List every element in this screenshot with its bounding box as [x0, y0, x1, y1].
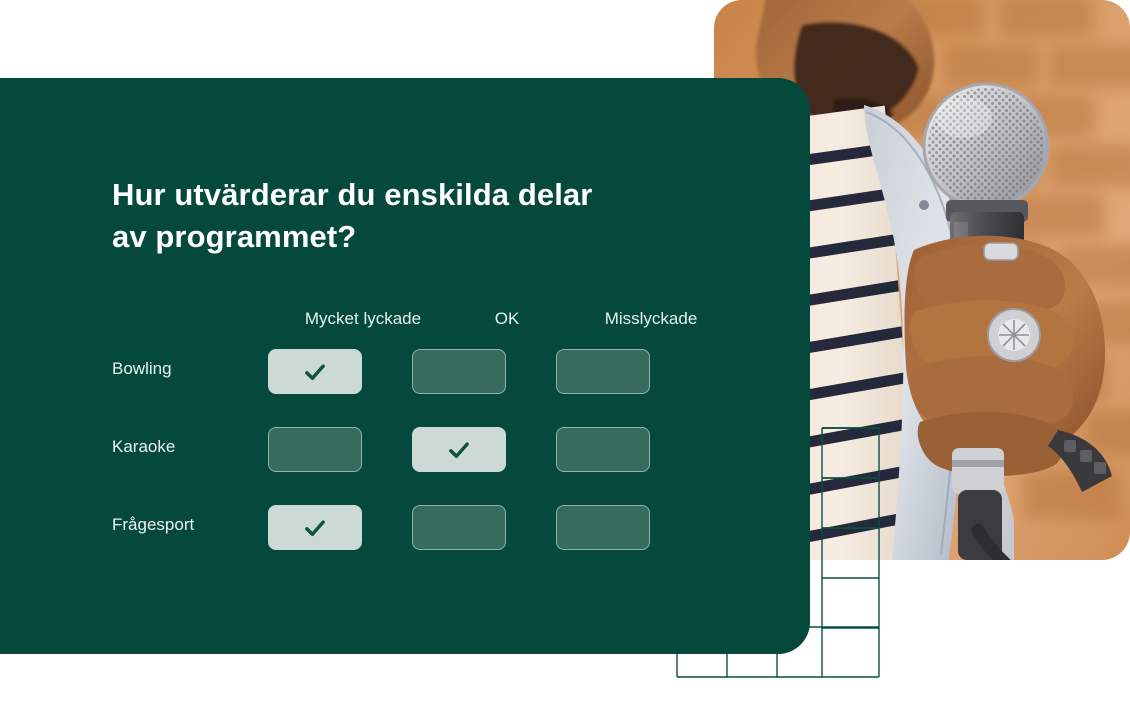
option-fragesport-mycket-lyckade[interactable]	[268, 505, 362, 550]
check-icon	[302, 359, 328, 385]
rating-matrix: Mycket lyckade OK Misslyckade Bowling	[112, 308, 712, 570]
column-header-misslyckade: Misslyckade	[556, 308, 746, 330]
option-bowling-misslyckade[interactable]	[556, 349, 650, 394]
page-title: Hur utvärderar du enskilda delar av prog…	[112, 174, 632, 258]
option-karaoke-mycket-lyckade[interactable]	[268, 427, 362, 472]
matrix-column-headers: Mycket lyckade OK Misslyckade	[112, 308, 712, 336]
option-fragesport-ok[interactable]	[412, 505, 506, 550]
row-label-karaoke: Karaoke	[112, 435, 175, 459]
row-label-bowling: Bowling	[112, 357, 172, 381]
table-row: Karaoke	[112, 414, 712, 492]
survey-card: Hur utvärderar du enskilda delar av prog…	[0, 78, 810, 654]
option-karaoke-ok[interactable]	[412, 427, 506, 472]
check-icon	[302, 515, 328, 541]
table-row: Frågesport	[112, 492, 712, 570]
option-karaoke-misslyckade[interactable]	[556, 427, 650, 472]
option-bowling-ok[interactable]	[412, 349, 506, 394]
table-row: Bowling	[112, 336, 712, 414]
check-icon	[446, 437, 472, 463]
option-bowling-mycket-lyckade[interactable]	[268, 349, 362, 394]
option-fragesport-misslyckade[interactable]	[556, 505, 650, 550]
row-label-fragesport: Frågesport	[112, 513, 194, 537]
